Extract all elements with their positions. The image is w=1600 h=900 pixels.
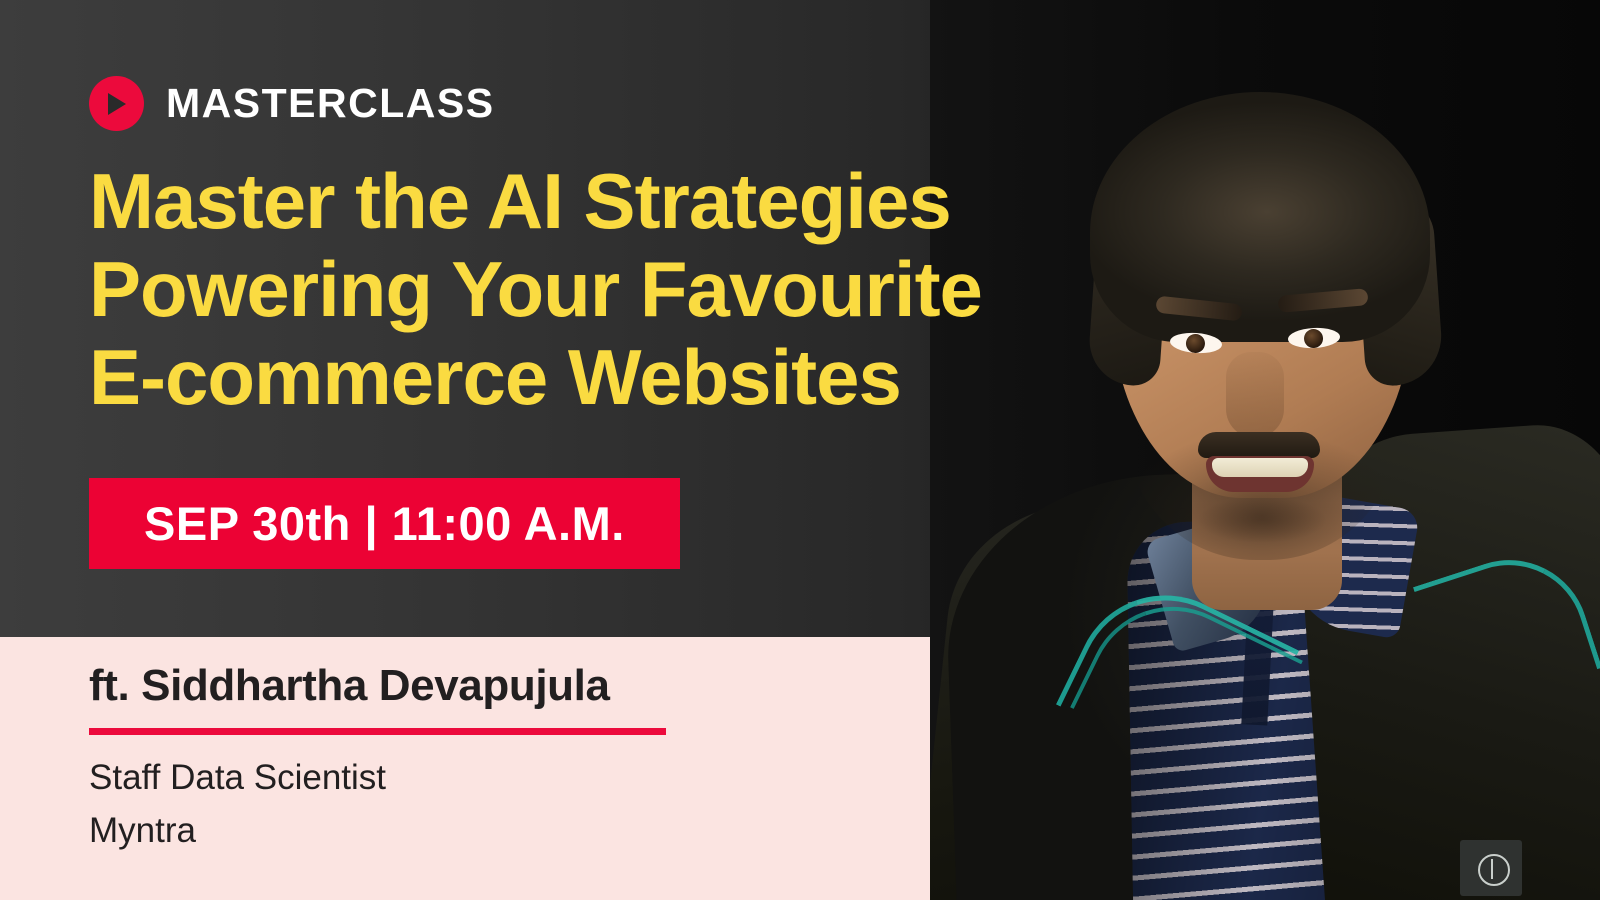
moustache (1198, 432, 1320, 458)
masterclass-promo-banner: MASTERCLASS Master the AI Strategies Pow… (0, 0, 1600, 900)
jacket-logo-icon (1478, 854, 1510, 886)
masterclass-eyebrow: MASTERCLASS (89, 76, 495, 131)
headline-line-1: Master the AI Strategies (89, 157, 1029, 245)
speaker-name-underline (89, 728, 666, 735)
chin-shadow (1174, 496, 1350, 556)
headline-line-2: Powering Your Favourite (89, 245, 1029, 333)
speaker-photo (930, 0, 1600, 900)
iris-right (1304, 329, 1324, 349)
mouth (1206, 456, 1314, 492)
headline-line-3: E-commerce Websites (89, 333, 1029, 421)
play-circle-icon (89, 76, 144, 131)
person-figure (930, 0, 1600, 900)
headline: Master the AI Strategies Powering Your F… (89, 157, 1029, 421)
date-time-badge: SEP 30th | 11:00 A.M. (89, 478, 680, 569)
speaker-company: Myntra (89, 804, 196, 857)
teeth (1212, 458, 1308, 477)
speaker-name: ft. Siddhartha Devapujula (89, 661, 610, 711)
hair-top (1090, 92, 1430, 342)
speaker-role: Staff Data Scientist (89, 751, 386, 804)
date-time-text: SEP 30th | 11:00 A.M. (89, 496, 625, 551)
masterclass-label: MASTERCLASS (166, 83, 495, 124)
iris-left (1185, 333, 1205, 353)
